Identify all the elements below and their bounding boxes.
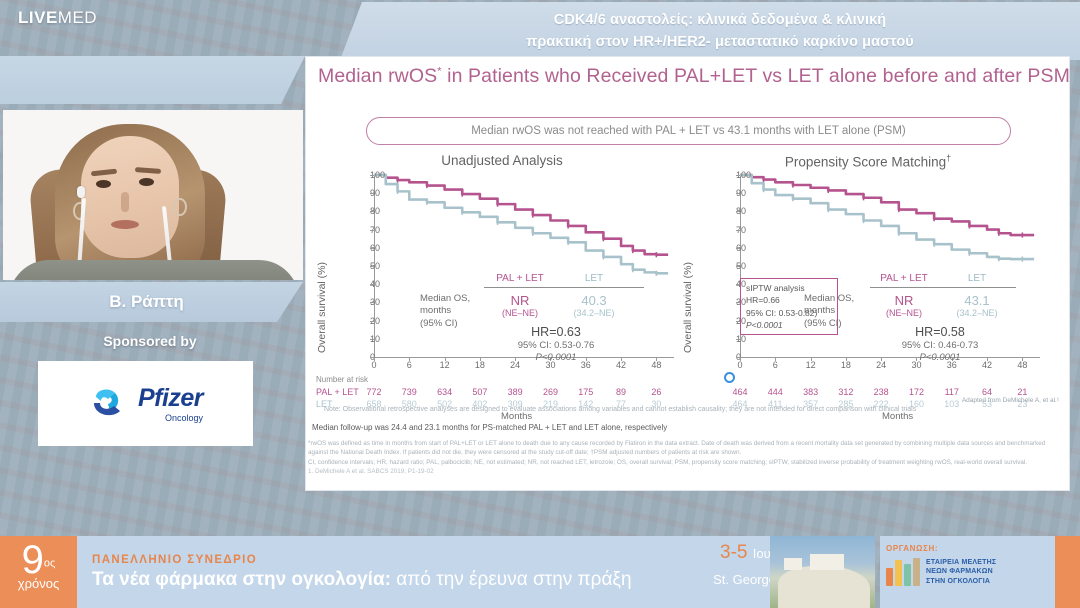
median-followup-text: Median follow-up was 24.4 and 23.1 month… <box>312 423 667 432</box>
organizer-name: ΕΤΑΙΡΕΙΑ ΜΕΛΕΤΗΣΝΕΩΝ ΦΑΡΜΑΚΩΝΣΤΗΝ ΟΓΚΟΛΟ… <box>926 558 996 586</box>
anniversary-word: χρόνος <box>0 576 77 591</box>
sponsor-name: Pfizer <box>138 384 203 413</box>
risk-count: 389 <box>508 387 523 397</box>
mouse-cursor <box>724 372 735 383</box>
risk-count: 312 <box>838 387 853 397</box>
sponsor-sub: Oncology <box>138 413 203 423</box>
pfizer-swirl-icon <box>88 385 134 423</box>
risk-count: 172 <box>909 387 924 397</box>
speaker-top-band <box>0 56 305 104</box>
median-ci-let-right: (34.2–NE) <box>948 308 1006 318</box>
organizer-logo-icon <box>886 558 920 586</box>
risk-count: 21 <box>1017 387 1027 397</box>
y-axis-label-left: Overall survival (%) <box>316 262 328 353</box>
footnote-2: CI, confidence intervals; HR, hazard rat… <box>308 458 1066 467</box>
chart-title-left: Unadjusted Analysis <box>316 153 688 168</box>
risk-count: 89 <box>616 387 626 397</box>
acropolis-illustration <box>770 536 875 608</box>
x-tick-label: 12 <box>440 360 450 370</box>
session-header-banner: CDK4/6 αναστολείς: κλινικά δεδομένα & κλ… <box>340 2 1080 60</box>
hr-p-left: P<0.0001 <box>466 352 646 363</box>
chart-panel-unadjusted: Unadjusted Analysis Overall survival (%)… <box>316 153 688 423</box>
legend-let-right: LET <box>948 273 1006 284</box>
risk-count: 26 <box>651 387 661 397</box>
logo-med: MED <box>58 8 97 27</box>
hr-value-right: HR=0.58 <box>850 325 1030 339</box>
chart-panel-psm: Propensity Score Matching† Overall survi… <box>682 153 1054 423</box>
speaker-name-band: Β. Ράπτη <box>0 282 303 322</box>
speaker-video[interactable] <box>3 110 303 280</box>
anniversary-sup: ος <box>44 558 55 570</box>
risk-count: 238 <box>874 387 889 397</box>
anniversary-logo: 9ος χρόνος <box>0 536 77 608</box>
organizer-label: ΟΡΓΑΝΩΣΗ: <box>886 544 1049 553</box>
risk-count: 103 <box>944 399 959 409</box>
risk-count: 464 <box>732 387 747 397</box>
conference-title-bold: Τα νέα φάρμακα στην ογκολογία: <box>92 569 391 590</box>
risk-count: 64 <box>982 387 992 397</box>
key-message-callout: Median rwOS was not reached with PAL + L… <box>366 117 1011 145</box>
x-tick-label: 6 <box>773 360 778 370</box>
slide-title: Median rwOS* in Patients who Received PA… <box>318 65 1060 88</box>
x-tick-label: 0 <box>737 360 742 370</box>
presentation-slide: Median rwOS* in Patients who Received PA… <box>305 56 1070 491</box>
x-tick-label: 48 <box>651 360 661 370</box>
risk-count: 383 <box>803 387 818 397</box>
header-line-1: CDK4/6 αναστολείς: κλινικά δεδομένα & κλ… <box>526 9 914 31</box>
legend-let-left: LET <box>564 273 624 284</box>
footnote-1: *rwOS was defined as time in months from… <box>308 439 1066 458</box>
hr-ci-right: 95% CI: 0.46-0.73 <box>850 340 1030 351</box>
x-tick-label: 12 <box>806 360 816 370</box>
median-ci-pal-right: (NE–NE) <box>868 308 940 318</box>
risk-count: 175 <box>578 387 593 397</box>
adapted-from-citation: Adapted from DeMichele A, et al.¹ <box>962 397 1059 404</box>
logo-live: LIVE <box>18 8 58 27</box>
conference-banner: 9ος χρόνος ΠΑΝΕΛΛΗΝΙΟ ΣΥΝΕΔΡΙΟ Τα νέα φά… <box>0 536 1080 608</box>
number-at-risk-title: Number at risk <box>316 375 368 384</box>
speaker-name: Β. Ράπτη <box>109 292 194 312</box>
x-tick-label: 6 <box>407 360 412 370</box>
risk-count: 444 <box>768 387 783 397</box>
risk-count: 772 <box>366 387 381 397</box>
conference-info: ΠΑΝΕΛΛΗΝΙΟ ΣΥΝΕΔΡΙΟ Τα νέα φάρμακα στην … <box>77 536 787 608</box>
header-line-2: πρακτική στον HR+/HER2- μεταστατικό καρκ… <box>526 31 914 53</box>
median-ci-let-left: (34.2–NE) <box>564 308 624 318</box>
anniversary-number: 9 <box>22 536 44 580</box>
risk-count: 739 <box>402 387 417 397</box>
median-ci-pal-left: (NE–NE) <box>484 308 556 318</box>
median-value-let-right: 43.1 <box>948 293 1006 308</box>
conference-title-light: από την έρευνα στην πράξη <box>391 569 632 590</box>
risk-count: 269 <box>543 387 558 397</box>
y-axis-label-right: Overall survival (%) <box>682 262 694 353</box>
median-value-pal-left: NR <box>484 293 556 308</box>
slide-note: Note: Observational retrospective analys… <box>324 406 916 413</box>
x-tick-label: 0 <box>371 360 376 370</box>
slide-footnotes: *rwOS was defined as time in months from… <box>308 439 1066 477</box>
hr-value-left: HR=0.63 <box>466 325 646 339</box>
risk-row-label-pal-left: PAL + LET <box>316 387 359 397</box>
slide-reference: 1. DeMichele A et al. SABCS 2019; P1-19-… <box>308 467 1066 476</box>
hr-ci-left: 95% CI: 0.53-0.76 <box>466 340 646 351</box>
hr-p-right: P<0.0001 <box>850 352 1030 363</box>
risk-count: 634 <box>437 387 452 397</box>
legend-pal-left: PAL + LET <box>484 273 556 284</box>
risk-count: 507 <box>472 387 487 397</box>
chart-title-right-sup: † <box>946 153 951 163</box>
chart-title-right-text: Propensity Score Matching <box>785 155 946 170</box>
organizer-block: ΟΡΓΑΝΩΣΗ: ΕΤΑΙΡΕΙΑ ΜΕΛΕΤΗΣΝΕΩΝ ΦΑΡΜΑΚΩΝΣ… <box>880 536 1055 608</box>
livemed-logo: LIVEMED <box>18 8 97 28</box>
date-range: 3-5 <box>720 542 747 563</box>
median-value-pal-right: NR <box>868 293 940 308</box>
sponsored-by-label: Sponsored by <box>0 333 300 349</box>
median-value-let-left: 40.3 <box>564 293 624 308</box>
banner-right-cap <box>1055 536 1080 608</box>
sponsor-logo: Pfizer Oncology <box>38 361 253 446</box>
callout-text: Median rwOS was not reached with PAL + L… <box>471 125 906 137</box>
chart-title-right: Propensity Score Matching† <box>682 153 1054 170</box>
risk-count: 117 <box>945 387 959 397</box>
legend-pal-right: PAL + LET <box>868 273 940 284</box>
